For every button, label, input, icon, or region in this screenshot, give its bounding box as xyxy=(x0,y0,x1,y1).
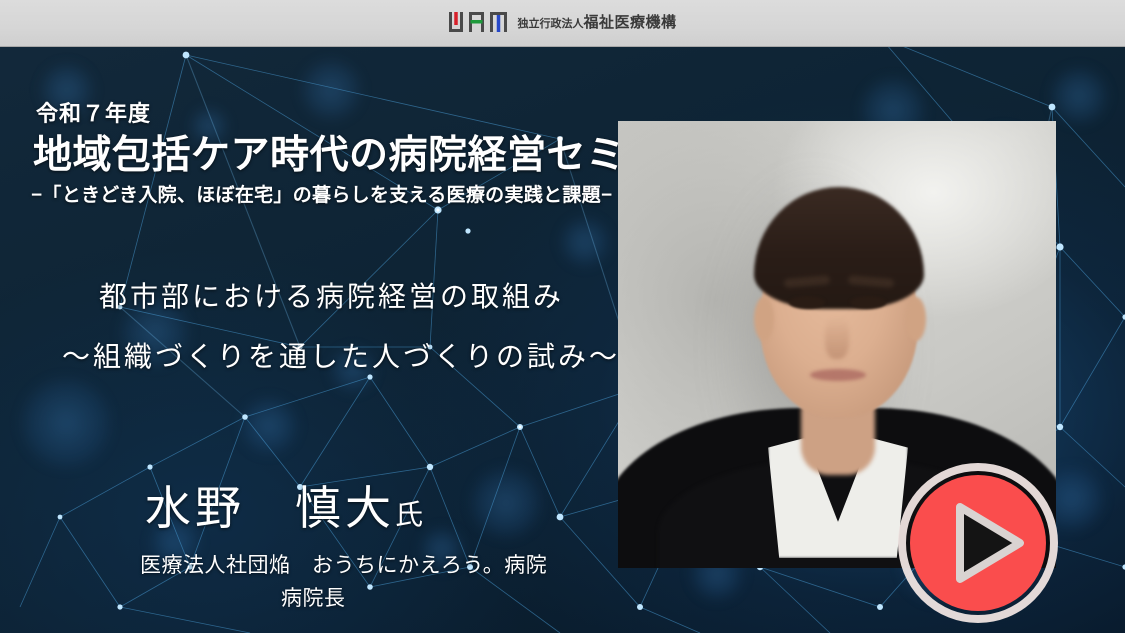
speaker-name-text: 水野 慎大 xyxy=(145,482,395,534)
speaker-eye-right xyxy=(850,296,886,309)
speaker-ear-left xyxy=(754,297,774,341)
speaker-mouth xyxy=(810,369,866,381)
seminar-slide: 令和７年度 地域包括ケア時代の病院経営セミナー −「ときどき入院、ほぼ在宅」の暮… xyxy=(0,47,1125,633)
seminar-sub-title: −「ときどき入院、ほぼ在宅」の暮らしを支える医療の実践と課題− xyxy=(31,180,612,207)
organization-prefix: 独立行政法人 xyxy=(517,18,583,30)
talk-title: 都市部における病院経営の取組み xyxy=(99,275,564,315)
play-button[interactable] xyxy=(898,463,1058,623)
speaker-name: 水野 慎大氏 xyxy=(145,472,424,538)
brand-lockup: 独立行政法人福祉医療機構 xyxy=(448,11,676,33)
speaker-nose xyxy=(825,317,849,359)
organization-main: 福祉医療機構 xyxy=(583,14,676,31)
talk-subtitle: 〜組織づくりを通した人づくりの試み〜 xyxy=(62,335,620,375)
play-icon[interactable] xyxy=(898,463,1058,623)
speaker-role: 病院長 xyxy=(281,582,346,612)
speaker-eye-left xyxy=(789,296,825,309)
wam-logo-icon xyxy=(448,11,508,33)
speaker-honorific: 氏 xyxy=(395,499,424,530)
organization-name: 独立行政法人福祉医療機構 xyxy=(517,15,676,30)
speaker-ear-right xyxy=(906,297,926,341)
video-player-screen: 独立行政法人福祉医療機構 xyxy=(0,0,1125,633)
brand-header-bar: 独立行政法人福祉医療機構 xyxy=(0,0,1125,47)
speaker-affiliation: 医療法人社団焔 おうちにかえろう。病院 xyxy=(140,549,547,579)
seminar-main-title: 地域包括ケア時代の病院経営セミナー xyxy=(33,124,705,180)
